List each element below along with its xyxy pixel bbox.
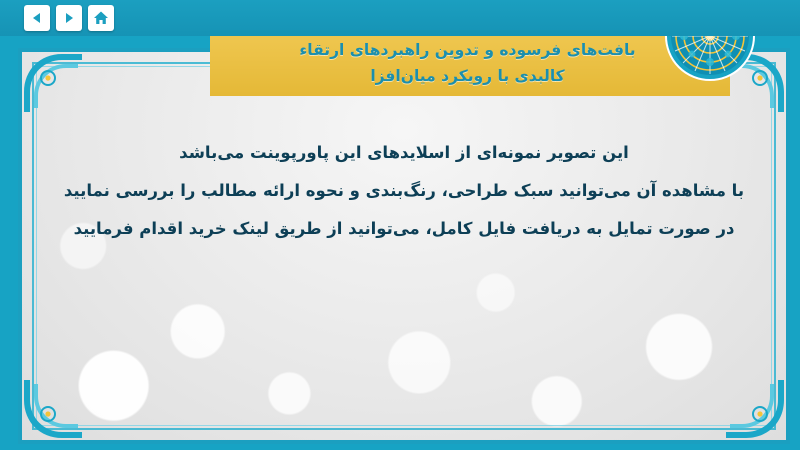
slide-navigation-group — [24, 3, 114, 33]
title-line-3: کالبدی با رویکرد میان‌افزا — [370, 63, 564, 89]
slide-paragraph-3: در صورت تمایل به دریافت فایل کامل، می‌تو… — [62, 210, 746, 248]
slide-paragraph-1: این تصویر نمونه‌ای از اسلایدهای این پاور… — [62, 134, 746, 172]
slide-paragraph-2: با مشاهده آن می‌توانید سبک طراحی، رنگ‌بن… — [62, 172, 746, 210]
home-icon — [93, 10, 109, 26]
title-line-2: بافت‌های فرسوده و تدوین راهبردهای ارتقاء — [299, 37, 635, 63]
slide-canvas: این تصویر نمونه‌ای از اسلایدهای این پاور… — [18, 48, 790, 444]
top-toolbar — [0, 0, 800, 36]
next-slide-button[interactable] — [56, 5, 82, 31]
triangle-right-icon — [62, 11, 76, 25]
previous-slide-button[interactable] — [24, 5, 50, 31]
triangle-left-icon — [30, 11, 44, 25]
slide-body-text: این تصویر نمونه‌ای از اسلایدهای این پاور… — [62, 134, 746, 248]
home-button[interactable] — [88, 5, 114, 31]
